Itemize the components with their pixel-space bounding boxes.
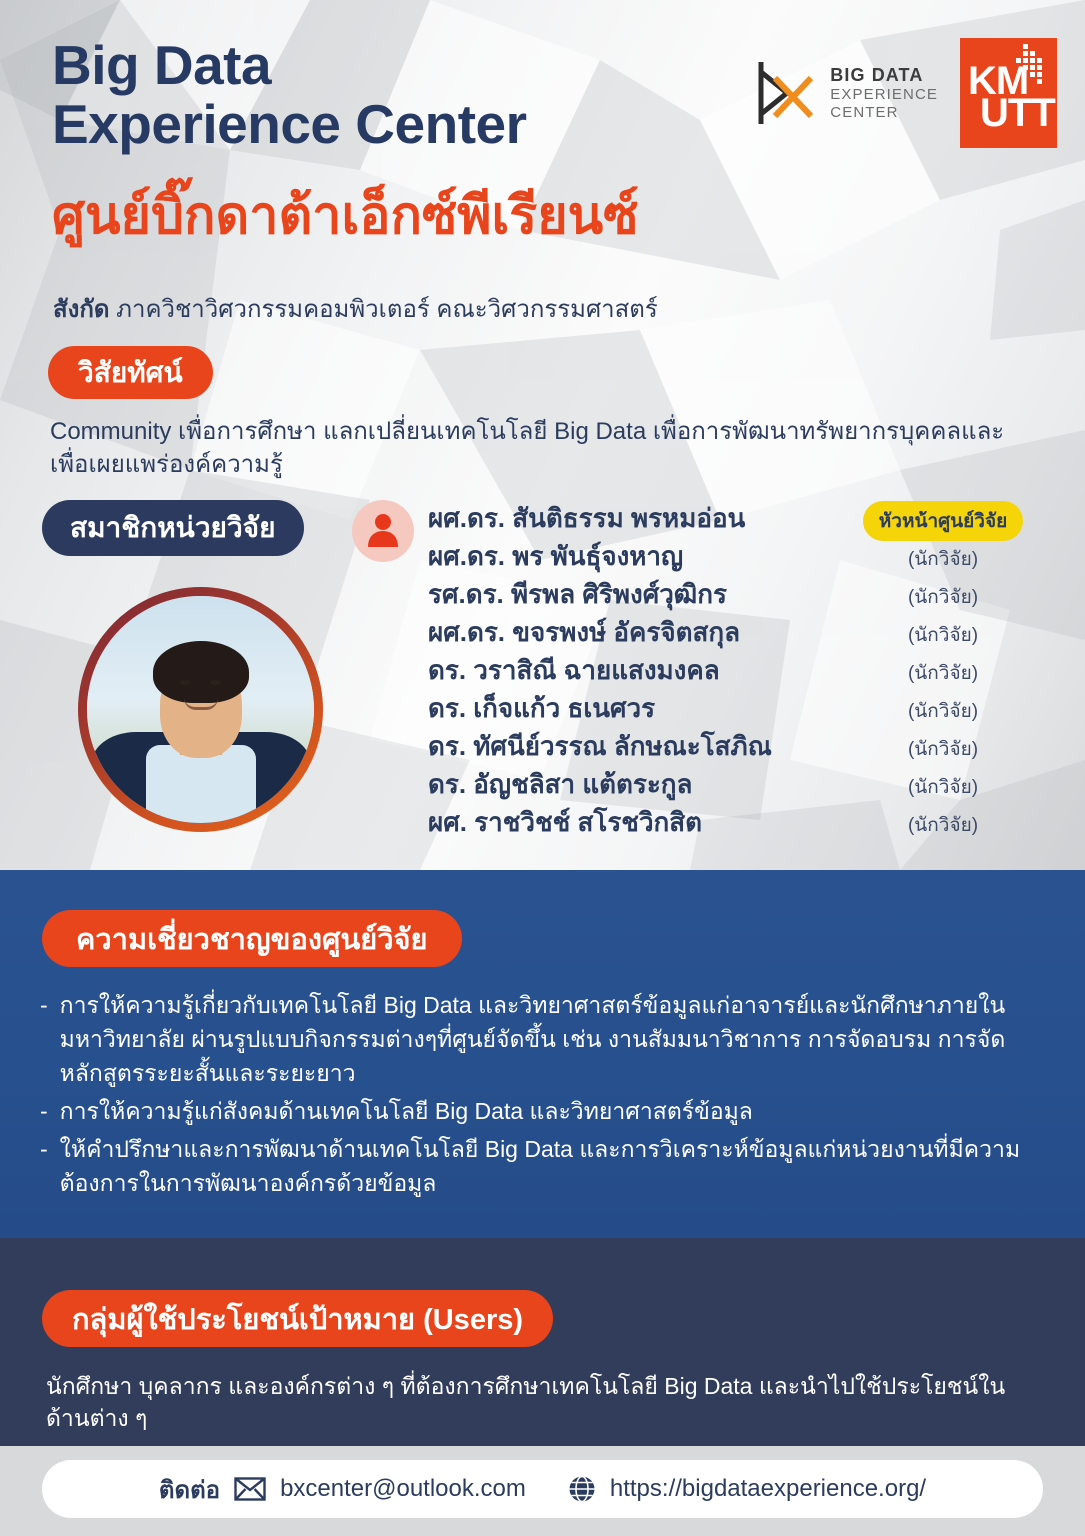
logo-group: BIG DATA EXPERIENCE CENTER bbox=[753, 38, 1057, 148]
list-item: รศ.ดร. พีรพล ศิริพงศ์วุฒิกร (นักวิจัย) bbox=[428, 574, 1028, 612]
member-role: หัวหน้าศูนย์วิจัย bbox=[858, 501, 1028, 541]
users-badge: กลุ่มผู้ใช้ประโยชน์เป้าหมาย (Users) bbox=[42, 1290, 553, 1347]
footer-section: ติดต่อ bxcenter@outlook.com bbox=[0, 1446, 1085, 1536]
member-name: รศ.ดร. พีรพล ศิริพงศ์วุฒิกร bbox=[428, 574, 858, 615]
member-name: ดร. ทัศนีย์วรรณ ลักษณะโสภิณ bbox=[428, 726, 858, 767]
expertise-bullet-list: - การให้ความรู้เกี่ยวกับเทคโนโลยี Big Da… bbox=[40, 988, 1050, 1204]
member-role: (นักวิจัย) bbox=[858, 696, 1028, 726]
list-item: - ให้คำปรึกษาและการพัฒนาด้านเทคโนโลยี Bi… bbox=[40, 1132, 1050, 1200]
users-section: กลุ่มผู้ใช้ประโยชน์เป้าหมาย (Users) นักศ… bbox=[0, 1238, 1085, 1446]
lead-researcher-avatar bbox=[78, 587, 323, 832]
affiliation: สังกัด ภาควิชาวิศวกรรมคอมพิวเตอร์ คณะวิศ… bbox=[53, 289, 658, 328]
member-role: (นักวิจัย) bbox=[858, 582, 1028, 612]
users-text: นักศึกษา บุคลากร และองค์กรต่าง ๆ ที่ต้อง… bbox=[46, 1370, 1046, 1434]
avatar-photo bbox=[87, 596, 314, 823]
list-item: ดร. อัญชลิสา แต้ตระกูล (นักวิจัย) bbox=[428, 764, 1028, 802]
list-item: ผศ.ดร. พร พันธุ์จงหาญ (นักวิจัย) bbox=[428, 536, 1028, 574]
page-title-thai: ศูนย์บิ๊กดาต้าเอ็กซ์พีเรียนซ์ bbox=[52, 188, 639, 245]
email-link[interactable]: bxcenter@outlook.com bbox=[280, 1475, 526, 1503]
contact-label: ติดต่อ bbox=[159, 1470, 220, 1509]
expertise-section: ความเชี่ยวชาญของศูนย์วิจัย - การให้ความร… bbox=[0, 870, 1085, 1238]
member-name: ผศ.ดร. ขจรพงษ์ อัครจิตสกุล bbox=[428, 612, 858, 653]
poster-root: Big Data Experience Center ศูนย์บิ๊กดาต้… bbox=[0, 0, 1085, 1536]
member-role: (นักวิจัย) bbox=[858, 772, 1028, 802]
bx-mark-icon bbox=[753, 58, 817, 128]
list-item: ดร. วราสิณี ฉายแสงมงคล (นักวิจัย) bbox=[428, 650, 1028, 688]
member-name: ผศ. ราชวิชช์ สโรชวิกสิต bbox=[428, 802, 858, 843]
vision-text: Community เพื่อการศึกษา แลกเปลี่ยนเทคโนโ… bbox=[50, 416, 1040, 481]
member-role: (นักวิจัย) bbox=[858, 734, 1028, 764]
kmutt-logo: KM UTT bbox=[960, 38, 1057, 148]
list-item: - การให้ความรู้แก่สังคมด้านเทคโนโลยี Big… bbox=[40, 1094, 1050, 1128]
bullet-marker: - bbox=[40, 1132, 48, 1200]
status-badge: หัวหน้าศูนย์วิจัย bbox=[863, 501, 1024, 541]
bx-logo-line2: EXPERIENCE bbox=[830, 86, 938, 104]
website-link[interactable]: https://bigdataexperience.org/ bbox=[610, 1475, 926, 1503]
globe-icon bbox=[568, 1475, 596, 1503]
list-item: ผศ. ราชวิชช์ สโรชวิกสิต (นักวิจัย) bbox=[428, 802, 1028, 840]
list-item: ดร. เก็จแก้ว ธเนศวร (นักวิจัย) bbox=[428, 688, 1028, 726]
member-role: (นักวิจัย) bbox=[858, 810, 1028, 840]
members-badge: สมาชิกหน่วยวิจัย bbox=[42, 500, 304, 556]
member-name: ผศ.ดร. สันติธรรม พรหมอ่อน bbox=[428, 498, 858, 539]
affiliation-label: สังกัด bbox=[53, 296, 109, 323]
member-name: ดร. อัญชลิสา แต้ตระกูล bbox=[428, 764, 858, 805]
page-title-english: Big Data Experience Center bbox=[52, 36, 527, 154]
member-name: ดร. เก็จแก้ว ธเนศวร bbox=[428, 688, 858, 729]
bx-logo-line1: BIG DATA bbox=[830, 65, 938, 86]
bx-logo-wordmark: BIG DATA EXPERIENCE CENTER bbox=[830, 65, 938, 122]
bx-logo: BIG DATA EXPERIENCE CENTER bbox=[753, 58, 938, 128]
member-name: ดร. วราสิณี ฉายแสงมงคล bbox=[428, 650, 858, 691]
expertise-badge: ความเชี่ยวชาญของศูนย์วิจัย bbox=[42, 910, 462, 967]
list-item: ผศ.ดร. สันติธรรม พรหมอ่อน หัวหน้าศูนย์วิ… bbox=[428, 498, 1028, 536]
bullet-text: การให้ความรู้เกี่ยวกับเทคโนโลยี Big Data… bbox=[60, 988, 1050, 1090]
member-list: ผศ.ดร. สันติธรรม พรหมอ่อน หัวหน้าศูนย์วิ… bbox=[428, 498, 1028, 840]
header-section: Big Data Experience Center ศูนย์บิ๊กดาต้… bbox=[0, 0, 1085, 870]
member-role: (นักวิจัย) bbox=[858, 544, 1028, 574]
kmutt-utt-text: UTT bbox=[980, 96, 1055, 130]
bullet-marker: - bbox=[40, 1094, 48, 1128]
member-role: (นักวิจัย) bbox=[858, 658, 1028, 688]
member-name: ผศ.ดร. พร พันธุ์จงหาญ bbox=[428, 536, 858, 577]
list-item: ผศ.ดร. ขจรพงษ์ อัครจิตสกุล (นักวิจัย) bbox=[428, 612, 1028, 650]
person-icon bbox=[352, 500, 414, 562]
contact-bar: ติดต่อ bxcenter@outlook.com bbox=[42, 1460, 1043, 1518]
list-item: ดร. ทัศนีย์วรรณ ลักษณะโสภิณ (นักวิจัย) bbox=[428, 726, 1028, 764]
bullet-text: การให้ความรู้แก่สังคมด้านเทคโนโลยี Big D… bbox=[60, 1094, 1050, 1128]
vision-badge: วิสัยทัศน์ bbox=[48, 346, 213, 399]
mail-icon bbox=[234, 1477, 266, 1501]
list-item: - การให้ความรู้เกี่ยวกับเทคโนโลยี Big Da… bbox=[40, 988, 1050, 1090]
bx-logo-line3: CENTER bbox=[830, 104, 938, 122]
member-role: (นักวิจัย) bbox=[858, 620, 1028, 650]
bullet-text: ให้คำปรึกษาและการพัฒนาด้านเทคโนโลยี Big … bbox=[60, 1132, 1050, 1200]
affiliation-value: ภาควิชาวิศวกรรมคอมพิวเตอร์ คณะวิศวกรรมศา… bbox=[116, 296, 658, 323]
bullet-marker: - bbox=[40, 988, 48, 1090]
